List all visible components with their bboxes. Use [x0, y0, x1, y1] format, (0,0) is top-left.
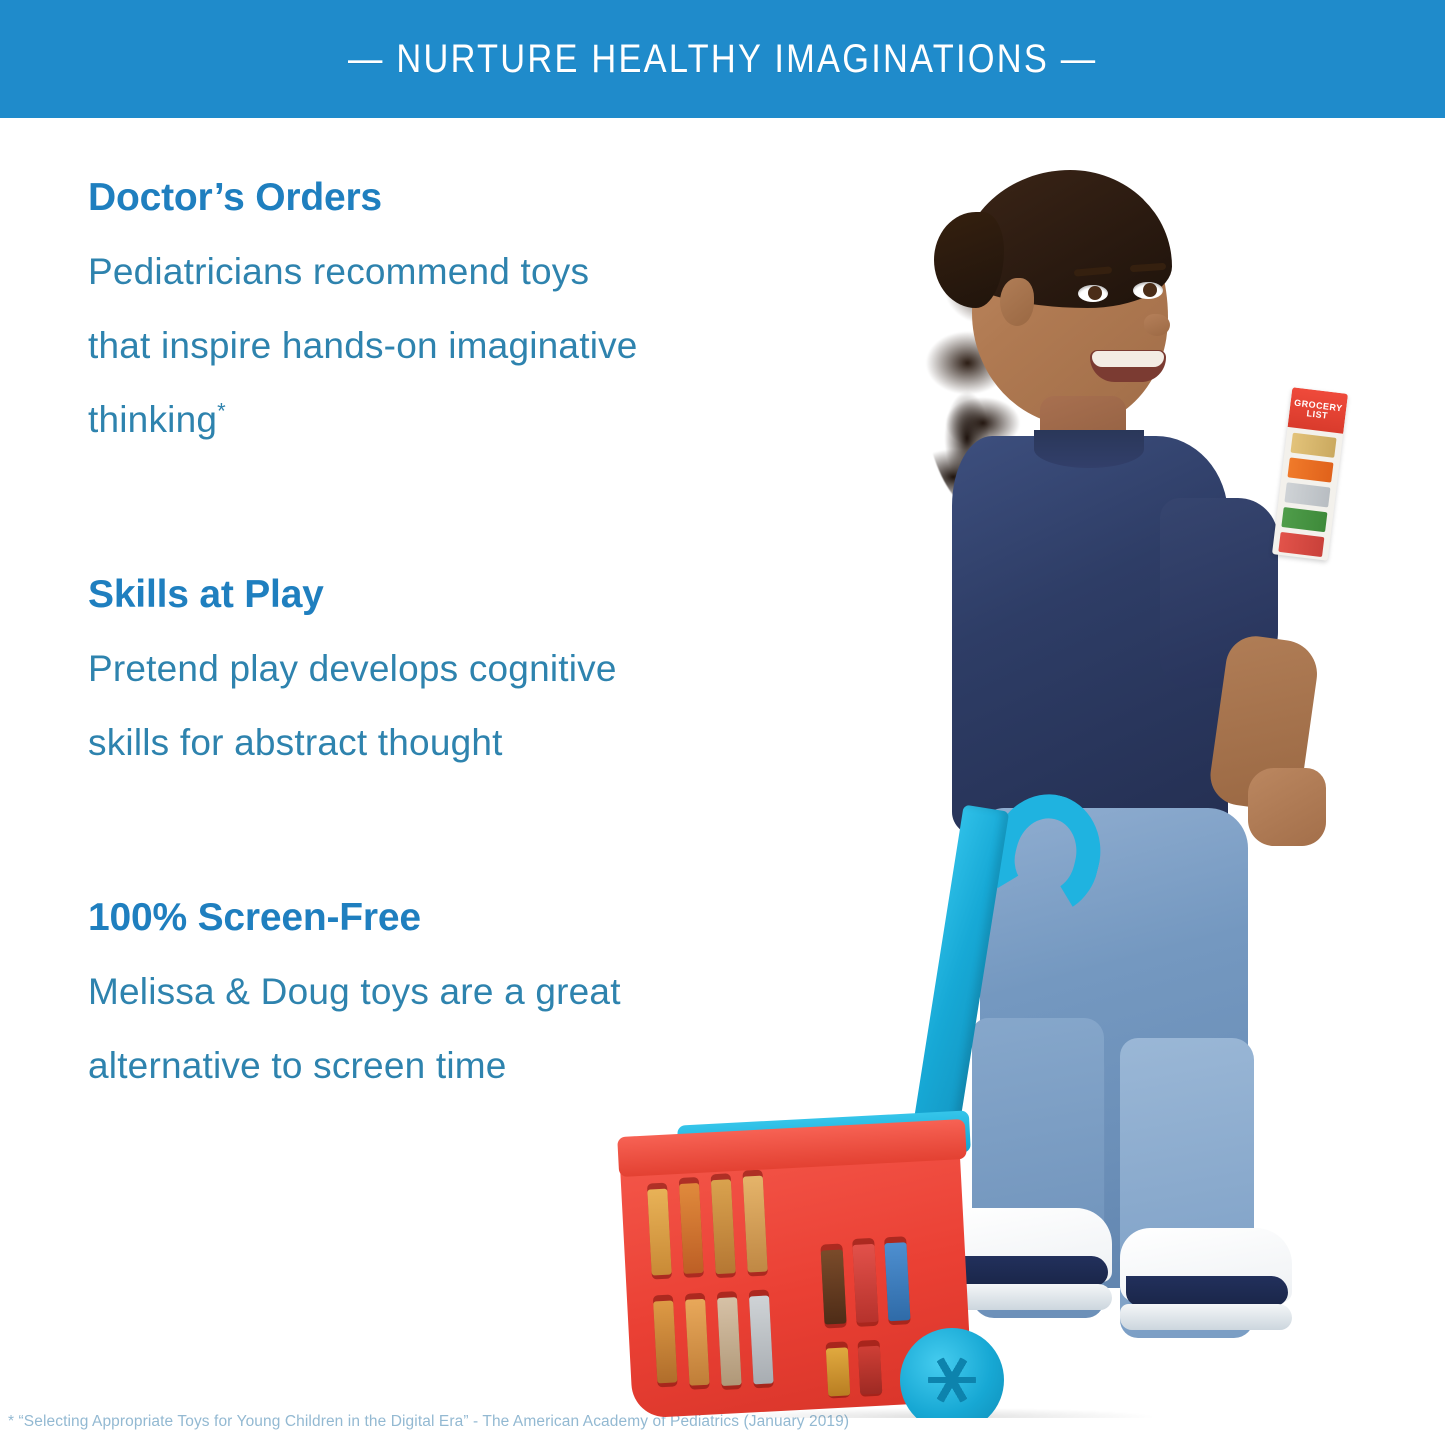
toy-grocery-item [679, 1183, 704, 1274]
toy-grocery-item [653, 1300, 677, 1383]
pupil [1143, 283, 1157, 297]
benefit-block-skills-at-play: Skills at Play Pretend play develops cog… [88, 575, 648, 780]
benefit-body-text: Pediatricians recommend toys that inspir… [88, 251, 638, 440]
header-banner: — NURTURE HEALTHY IMAGINATIONS — [0, 0, 1445, 118]
toy-grocery-item [852, 1244, 878, 1323]
footnote-marker: * [217, 399, 226, 424]
hand [1248, 768, 1326, 846]
nose [1144, 314, 1170, 336]
pupil [1088, 286, 1102, 300]
grocery-list-row [1287, 457, 1333, 482]
benefit-heading: Skills at Play [88, 575, 648, 616]
toy-grocery-item [826, 1347, 850, 1396]
grocery-list-card: GROCERY LIST [1272, 387, 1348, 561]
benefit-heading: 100% Screen-Free [88, 898, 648, 939]
benefit-body: Melissa & Doug toys are a great alternat… [88, 955, 648, 1103]
benefit-body: Pretend play develops cognitive skills f… [88, 632, 648, 780]
toy-grocery-item [858, 1346, 882, 1395]
toy-grocery-item [743, 1176, 768, 1273]
benefit-body: Pediatricians recommend toys that inspir… [88, 235, 648, 457]
toy-grocery-item [749, 1295, 774, 1384]
toy-grocery-item [717, 1297, 742, 1386]
header-title: — NURTURE HEALTHY IMAGINATIONS — [348, 37, 1097, 82]
grocery-list-row [1281, 507, 1327, 532]
benefit-heading: Doctor’s Orders [88, 178, 648, 219]
mouth [1090, 350, 1166, 382]
toy-grocery-item [647, 1189, 671, 1276]
sneaker-front [1120, 1228, 1292, 1332]
toy-grocery-item [884, 1242, 910, 1321]
benefit-block-doctors-orders: Doctor’s Orders Pediatricians recommend … [88, 178, 648, 457]
product-photo: GROCERY LIST [600, 118, 1445, 1418]
toy-grocery-item [711, 1179, 736, 1274]
product-feature-image: — NURTURE HEALTHY IMAGINATIONS — Doctor’… [0, 0, 1445, 1445]
grocery-list-card-title: GROCERY LIST [1288, 387, 1348, 434]
benefit-block-screen-free: 100% Screen-Free Melissa & Doug toys are… [88, 898, 648, 1103]
toy-grocery-item [685, 1299, 709, 1386]
toy-grocery-item [821, 1250, 847, 1325]
grocery-list-row [1290, 433, 1336, 458]
ear [1000, 278, 1034, 326]
benefits-column: Doctor’s Orders Pediatricians recommend … [88, 178, 648, 1103]
grocery-list-row [1284, 482, 1330, 507]
grocery-list-row [1278, 532, 1324, 557]
teeth [1092, 351, 1164, 367]
